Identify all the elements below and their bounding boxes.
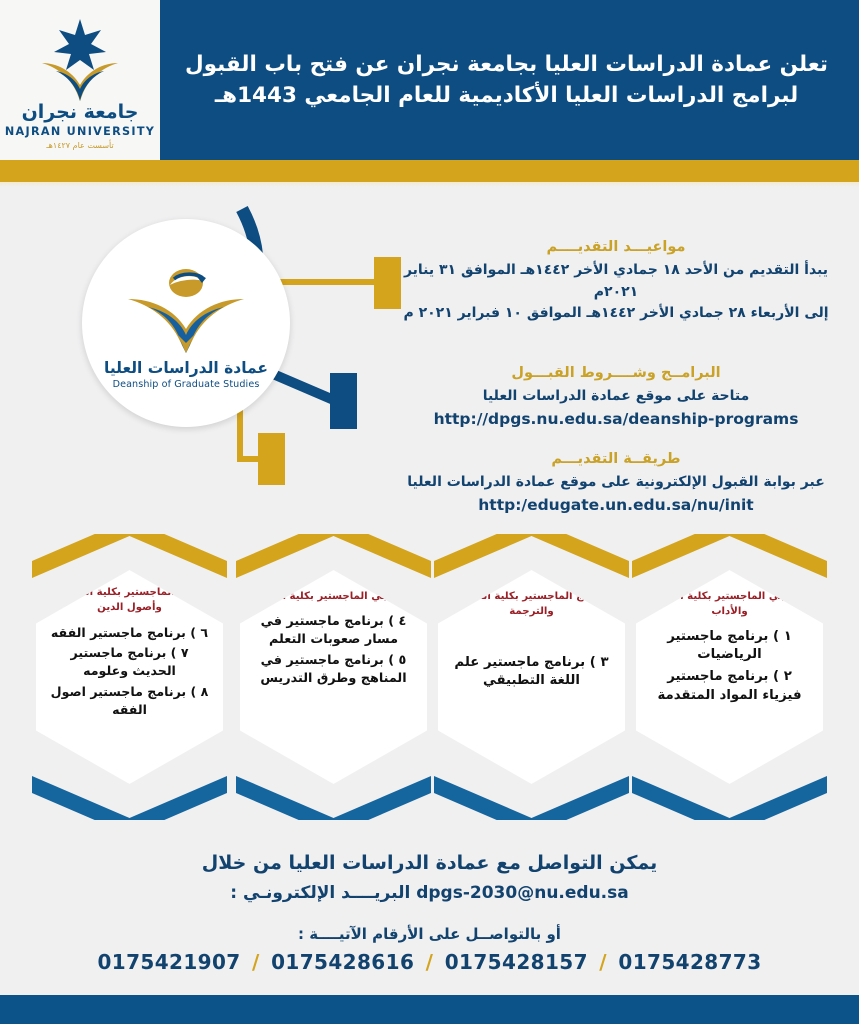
marker-dates — [374, 257, 401, 309]
program-item: ١ ) برنامج ماجستير الرياضيات — [650, 628, 809, 666]
programs-heading: البرامــج وشــــروط القبـــول — [401, 365, 831, 381]
card-heading: برامج الماجستير بكلية اللغات والترجمة — [452, 590, 611, 620]
programs-url[interactable]: http://dpgs.nu.edu.sa/deanship-programs — [401, 408, 831, 431]
phone-number[interactable]: 0175428616 — [271, 950, 414, 974]
card-sharia: برامج الماجستير بكلية الشريعة وأصول الدي… — [30, 534, 229, 820]
contact-email-label: البريــــد الإلكترونـي : — [230, 883, 410, 903]
card-heading: برامج الماجستير بكلية الشريعة وأصول الدي… — [50, 586, 209, 616]
phone-number[interactable]: 0175428157 — [445, 950, 588, 974]
contact-phones-label: أو بالتواصــل على الأرقام الآتيــــة : — [0, 925, 859, 943]
university-name-ar: جامعة نجران — [22, 103, 139, 122]
card-languages: برامج الماجستير بكلية اللغات والترجمة ٣ … — [432, 534, 631, 820]
deanship-graduate-studies-emblem-icon — [122, 265, 250, 357]
phone-separator: / — [422, 950, 438, 974]
card-languages-body: برامج الماجستير بكلية اللغات والترجمة ٣ … — [438, 570, 625, 784]
details-section: عمادة الدراسات العليا Deanship of Gradua… — [0, 187, 859, 532]
method-line-1: عبر بوابة القبول الإلكترونية على موقع عم… — [401, 472, 831, 494]
marker-programs — [330, 373, 357, 429]
header-banner: جامعة نجران NAJRAN UNIVERSITY تأسست عام … — [0, 0, 859, 160]
gold-divider-band — [0, 160, 859, 182]
program-item: ٥ ) برنامج ماجستير في المناهج وطرق التدر… — [254, 652, 413, 688]
contact-lead: يمكن التواصل مع عمادة الدراسات العليا من… — [0, 852, 859, 874]
contact-footer: يمكن التواصل مع عمادة الدراسات العليا من… — [0, 852, 859, 995]
najran-university-emblem-icon — [26, 15, 134, 107]
university-founded-year: تأسست عام ١٤٢٧هـ — [46, 141, 113, 150]
program-item: ٦ ) برنامج ماجستير الفقه — [50, 624, 209, 642]
page-title: تعلن عمادة الدراسات العليا بجامعة نجران … — [160, 0, 859, 160]
deanship-name-en: Deanship of Graduate Studies — [113, 379, 260, 390]
card-heading: برنامجي الماجستير بكلية التربية — [254, 590, 413, 605]
card-education: برنامجي الماجستير بكلية التربية ٤ ) برنا… — [234, 534, 433, 820]
program-item: ٤ ) برنامج ماجستير في مسار صعوبات التعلم — [254, 613, 413, 649]
university-name-en: NAJRAN UNIVERSITY — [5, 125, 155, 138]
programs-line-1: متاحة على موقع عمادة الدراسات العليا — [401, 386, 831, 408]
card-science-arts-body: برامجي الماجستير بكلية العلوم والأداب ١ … — [636, 570, 823, 784]
contact-email-address[interactable]: dpgs-2030@nu.edu.sa — [416, 883, 629, 903]
phone-number[interactable]: 0175421907 — [97, 950, 240, 974]
card-sharia-body: برامج الماجستير بكلية الشريعة وأصول الدي… — [36, 570, 223, 784]
title-line-2: لبرامج الدراسات العليا الأكاديمية للعام … — [215, 80, 798, 111]
program-item: ٣ ) برنامج ماجستير علم اللغة التطبيقي — [452, 654, 611, 692]
title-line-1: تعلن عمادة الدراسات العليا بجامعة نجران … — [185, 49, 828, 80]
program-item: ٢ ) برنامج ماجستير فيزياء المواد المتقدم… — [650, 668, 809, 706]
card-education-body: برنامجي الماجستير بكلية التربية ٤ ) برنا… — [240, 570, 427, 784]
method-heading: طريقــة التقديـــم — [401, 451, 831, 467]
dates-line-1: يبدأ التقديم من الأحد ١٨ جمادي الأخر ١٤٤… — [401, 260, 831, 303]
dates-block: مواعيـــد التقديــــم يبدأ التقديم من ال… — [401, 239, 831, 325]
program-item: ٨ ) برنامج ماجستير اصول الفقه — [50, 683, 209, 719]
program-item: ٧ ) برنامج ماجستير الحديث وعلومه — [50, 644, 209, 680]
contact-email-row: dpgs-2030@nu.edu.sa البريــــد الإلكترون… — [0, 883, 859, 903]
chevron-down-blue-icon — [432, 774, 631, 820]
university-logo: جامعة نجران NAJRAN UNIVERSITY تأسست عام … — [0, 0, 160, 160]
footer-blue-band — [0, 995, 859, 1024]
contact-phone-list: 0175421907 / 0175428616 / 0175428157 / 0… — [0, 950, 859, 974]
phone-separator: / — [248, 950, 264, 974]
method-url[interactable]: http:/edugate.un.edu.sa/nu/init — [401, 494, 831, 517]
program-cards: برامج الماجستير بكلية الشريعة وأصول الدي… — [0, 534, 859, 834]
deanship-logo-badge: عمادة الدراسات العليا Deanship of Gradua… — [68, 205, 304, 441]
phone-number[interactable]: 0175428773 — [618, 950, 761, 974]
chevron-down-blue-icon — [234, 774, 433, 820]
dates-line-2: إلى الأربعاء ٢٨ جمادي الأخر ١٤٤٢هـ الموا… — [401, 303, 831, 325]
infographic-poster: جامعة نجران NAJRAN UNIVERSITY تأسست عام … — [0, 0, 859, 1024]
chevron-down-blue-icon — [630, 774, 829, 820]
card-science-arts: برامجي الماجستير بكلية العلوم والأداب ١ … — [630, 534, 829, 820]
application-method-block: طريقــة التقديـــم عبر بوابة القبول الإل… — [401, 451, 831, 517]
chevron-down-blue-icon — [30, 774, 229, 820]
card-heading: برامجي الماجستير بكلية العلوم والأداب — [650, 590, 809, 620]
phone-separator: / — [595, 950, 611, 974]
programs-conditions-block: البرامــج وشــــروط القبـــول متاحة على … — [401, 365, 831, 431]
dates-heading: مواعيـــد التقديــــم — [401, 239, 831, 255]
deanship-name-ar: عمادة الدراسات العليا — [104, 359, 268, 377]
